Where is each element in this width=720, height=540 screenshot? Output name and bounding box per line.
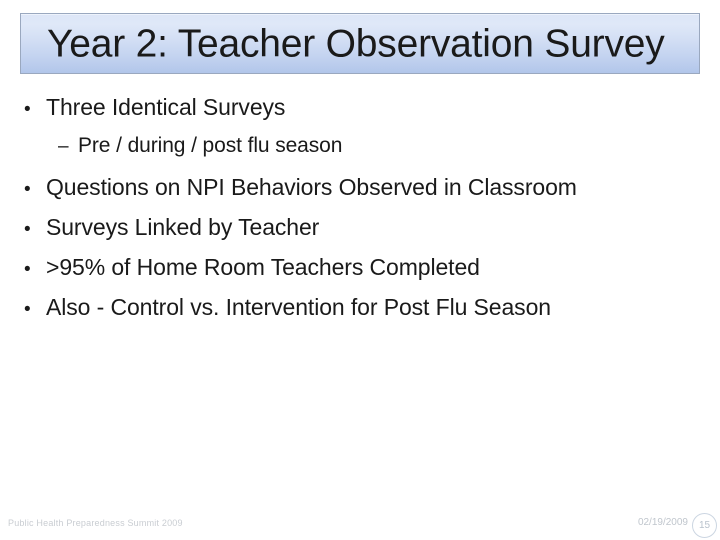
footer-date: 02/19/2009 [638, 517, 688, 528]
bullet-dash-icon: – [58, 136, 78, 158]
page-number: 15 [693, 514, 716, 537]
list-item-label: Three Identical Surveys [46, 94, 285, 121]
list-item: • >95% of Home Room Teachers Completed [24, 254, 684, 294]
bullet-dot-icon: • [24, 259, 46, 281]
slide-body-bullet-list: • Three Identical Surveys – Pre / during… [24, 94, 684, 334]
list-item: • Surveys Linked by Teacher [24, 214, 684, 254]
list-item-label: >95% of Home Room Teachers Completed [46, 254, 480, 281]
page-title: Year 2: Teacher Observation Survey [47, 24, 665, 63]
bullet-dot-icon: • [24, 99, 46, 121]
bullet-dot-icon: • [24, 219, 46, 241]
list-item: • Also - Control vs. Intervention for Po… [24, 294, 684, 334]
list-item: • Questions on NPI Behaviors Observed in… [24, 174, 684, 214]
bullet-dot-icon: • [24, 299, 46, 321]
list-item-label: Also - Control vs. Intervention for Post… [46, 294, 551, 321]
list-item-label: Pre / during / post flu season [78, 134, 342, 158]
bullet-dot-icon: • [24, 179, 46, 201]
list-item-label: Surveys Linked by Teacher [46, 214, 319, 241]
list-item-label: Questions on NPI Behaviors Observed in C… [46, 174, 577, 201]
slide-title-box: Year 2: Teacher Observation Survey [20, 13, 700, 74]
presentation-slide: Year 2: Teacher Observation Survey • Thr… [0, 0, 720, 540]
footer-conference-label: Public Health Preparedness Summit 2009 [8, 518, 183, 528]
list-item: – Pre / during / post flu season [24, 134, 684, 174]
list-item: • Three Identical Surveys [24, 94, 684, 134]
page-number-badge: 15 [692, 513, 717, 538]
